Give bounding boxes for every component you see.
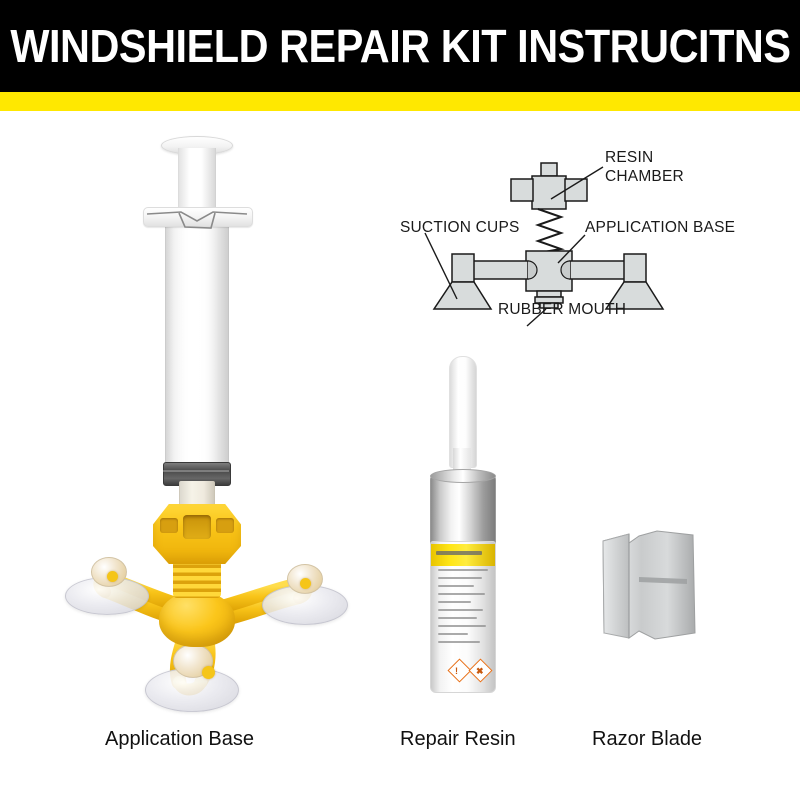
content-area: ! ✖ [0, 111, 800, 800]
caption-repair-resin: Repair Resin [400, 728, 516, 751]
resin-label-yellow-band [431, 544, 495, 566]
diagram-label-resin-chamber-line2: CHAMBER [605, 168, 684, 186]
diagram-label-resin-chamber: RESIN [605, 149, 653, 167]
syringe-finger-flange [143, 207, 253, 227]
product-razor-blade [595, 521, 715, 651]
instruction-sheet: WINDSHIELD REPAIR KIT INSTRUCITNS [0, 0, 800, 800]
product-application-base [55, 136, 355, 696]
resin-label-brand-text [436, 551, 482, 555]
hex-center-opening [183, 515, 211, 539]
warning-pictogram-glyph: ! [455, 667, 458, 676]
hex-notch-left [160, 518, 178, 533]
diagram-label-suction-cups: SUCTION CUPS [400, 219, 520, 237]
application-base-threads [173, 560, 221, 598]
page-title: WINDSHIELD REPAIR KIT INSTRUCITNS [10, 23, 790, 69]
diagram-label-rubber-mouth: RUBBER MOUTH [498, 301, 626, 319]
resin-chrome-rim [430, 469, 496, 483]
syringe-inner-plunger [173, 222, 219, 465]
suction-cup-pin [300, 578, 311, 589]
resin-chrome-collar [430, 472, 496, 546]
suction-cup-pin [202, 666, 215, 679]
yellow-accent-bar [0, 92, 800, 111]
gasket-highlight [163, 470, 229, 472]
suction-cup-pin [107, 571, 118, 582]
resin-label-fine-print [438, 569, 488, 655]
razor-blade-icon [595, 521, 715, 651]
caption-application-base: Application Base [105, 728, 254, 751]
header-banner: WINDSHIELD REPAIR KIT INSTRUCITNS [0, 0, 800, 92]
caption-razor-blade: Razor Blade [592, 728, 702, 751]
application-base-collar [159, 591, 235, 647]
diagram-label-application-base: APPLICATION BASE [585, 219, 735, 237]
resin-bottle-body: ! ✖ [430, 541, 496, 693]
warning-pictogram-glyph: ✖ [476, 667, 484, 676]
cutaway-diagram: RESIN CHAMBER SUCTION CUPS APPLICATION B… [395, 141, 795, 341]
product-repair-resin: ! ✖ [415, 356, 525, 696]
syringe-plunger-rod [178, 148, 216, 213]
hex-notch-right [216, 518, 234, 533]
